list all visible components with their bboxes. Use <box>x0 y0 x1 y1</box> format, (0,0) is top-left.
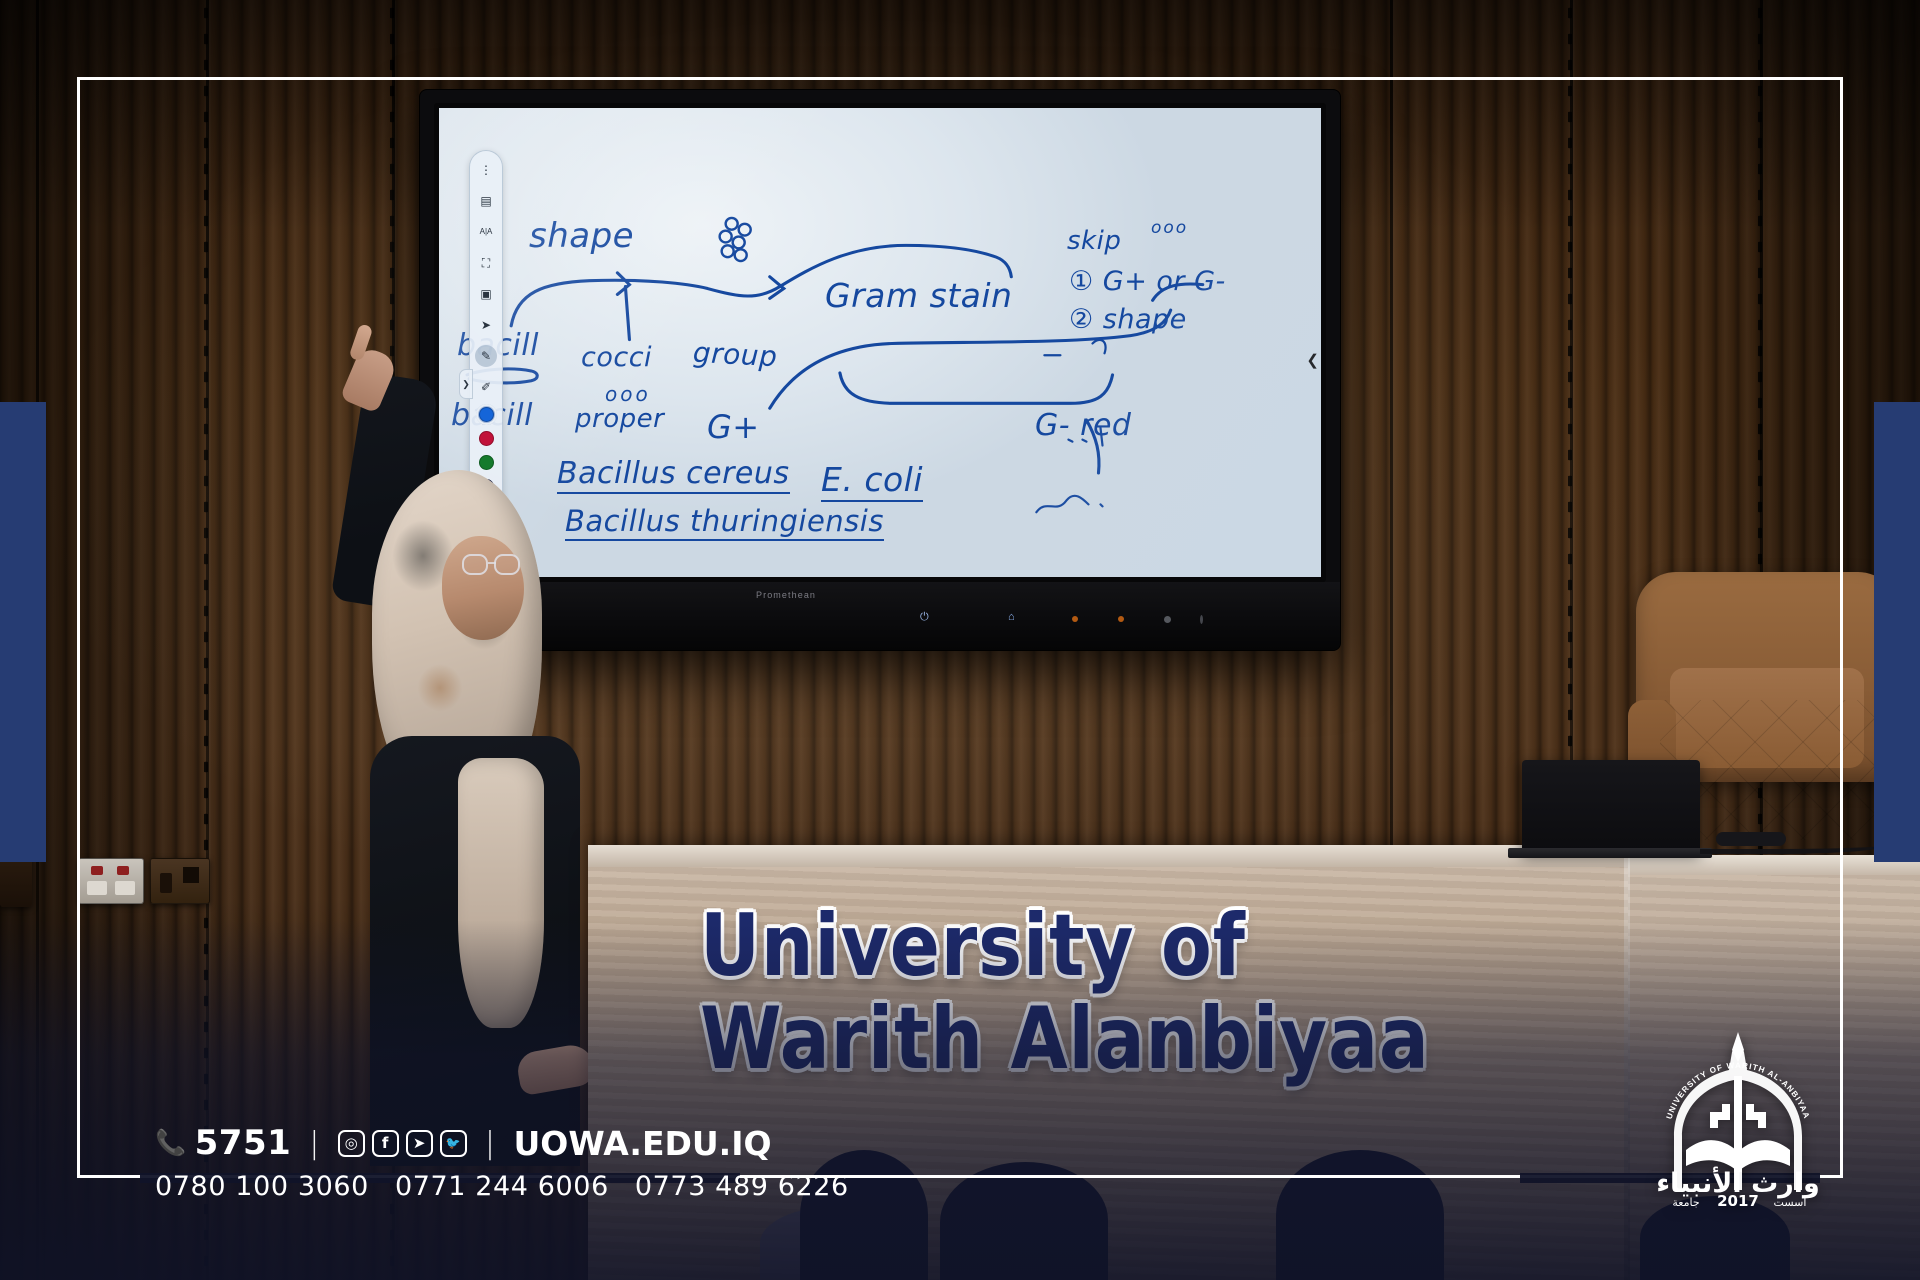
laptop-base <box>1508 848 1712 858</box>
note-skip-dots: ooo <box>1151 218 1188 238</box>
socket-outlet <box>87 881 107 895</box>
presenter-scarf-drape <box>458 758 544 1028</box>
power-icon[interactable]: ⏻ <box>920 611 929 624</box>
venue-sign-line-1: University of <box>700 896 1246 996</box>
wall-socket-double <box>78 858 144 904</box>
presenter <box>350 358 610 1158</box>
more-options-icon[interactable]: ⋮ <box>475 159 497 181</box>
note-skip: skip <box>1067 226 1121 256</box>
presenter-glasses <box>462 554 524 576</box>
sensor-led <box>1164 616 1171 623</box>
crest-year: 2017 <box>1717 1192 1759 1208</box>
save-icon[interactable]: ▤ <box>475 190 497 212</box>
phone-icon: 📞 <box>155 1128 187 1158</box>
glasses-lens <box>494 554 520 575</box>
twitter-icon[interactable]: 🐦 <box>440 1130 467 1157</box>
brand-accent-bar-left <box>0 402 46 862</box>
podium-top-edge <box>588 845 1628 867</box>
screenshot-root: shape bacill bacill cocci ooo proper gro… <box>0 0 1920 1280</box>
socket-switch <box>117 866 129 875</box>
instagram-icon[interactable]: ◎ <box>338 1130 365 1157</box>
telegram-icon[interactable]: ➤ <box>406 1130 433 1157</box>
socket-plate <box>160 873 172 893</box>
footer-primary-row: 📞 5751 | ◎ f ➤ 🐦 | UOWA.EDU.IQ <box>155 1123 849 1163</box>
crest-arabic-sub: جامعة <box>1672 1196 1699 1208</box>
venue-sign: University of Warith Alanbiyaa <box>700 900 1526 1086</box>
text-tool-icon[interactable]: A|A <box>475 221 497 243</box>
phone-number[interactable]: 0773 489 6226 <box>635 1171 849 1202</box>
wall-socket-dark <box>150 858 210 904</box>
venue-sign-line-2: Warith Alanbiyaa <box>700 993 1526 1086</box>
glasses-lens <box>462 554 488 575</box>
wall-socket-edge <box>0 855 32 907</box>
note-gram-stain: Gram stain <box>825 276 1012 315</box>
presenter-face <box>442 536 524 640</box>
socket-switch <box>91 866 103 875</box>
glasses-bridge <box>488 562 496 564</box>
phone-number[interactable]: 0771 244 6006 <box>395 1171 609 1202</box>
socket-outlet <box>115 881 135 895</box>
note-list-item-2: ② shape <box>1069 304 1187 335</box>
audience-head <box>1276 1150 1444 1280</box>
status-led <box>1118 616 1124 622</box>
ir-sensor <box>1200 615 1203 624</box>
footer-contact-block: 📞 5751 | ◎ f ➤ 🐦 | UOWA.EDU.IQ 0780 100 … <box>155 1123 849 1202</box>
crest-artwork: UNIVERSITY OF WARITH AL-ANBIYAA وارث الأ… <box>1652 1030 1824 1208</box>
home-icon[interactable]: ⌂ <box>1008 611 1015 623</box>
phone-number[interactable]: 0780 100 3060 <box>155 1171 369 1202</box>
note-cocci-dots: ooo <box>605 382 651 406</box>
note-group: group <box>692 336 778 373</box>
note-shape: shape <box>529 216 634 256</box>
note-g-negative-red: G- red <box>1035 408 1131 443</box>
screen-edge-handle[interactable]: ❮ <box>1306 351 1319 369</box>
cursor-icon[interactable]: ➤ <box>475 314 497 336</box>
note-list-item-1: ① G+ or G- <box>1069 266 1226 297</box>
footer-phone-row: 0780 100 3060 0771 244 6006 0773 489 622… <box>155 1171 849 1202</box>
note-g-positive: G+ <box>707 408 760 446</box>
note-bacillus-thuringiensis: Bacillus thuringiensis <box>565 504 884 541</box>
display-brand-label: Promethean <box>756 590 816 600</box>
insert-image-icon[interactable]: ▣ <box>475 283 497 305</box>
select-area-icon[interactable]: ⛶ <box>475 252 497 274</box>
laptop <box>1522 760 1700 852</box>
social-links[interactable]: ◎ f ➤ 🐦 <box>338 1130 467 1157</box>
website-url[interactable]: UOWA.EDU.IQ <box>514 1124 772 1163</box>
crest-arabic-est: أسست <box>1774 1195 1807 1208</box>
audience-head <box>940 1162 1108 1280</box>
socket-plate <box>183 867 199 883</box>
hotline-number[interactable]: 5751 <box>195 1123 292 1163</box>
brand-accent-bar-right <box>1874 402 1920 862</box>
audience-head <box>1640 1196 1790 1280</box>
note-e-coli: E. coli <box>821 460 923 502</box>
facebook-icon[interactable]: f <box>372 1130 399 1157</box>
university-logo: UNIVERSITY OF WARITH AL-ANBIYAA وارث الأ… <box>1652 1030 1824 1208</box>
desk-joint-seam <box>1624 855 1630 1280</box>
footer-separator: | <box>305 1126 324 1161</box>
status-led <box>1072 616 1078 622</box>
footer-separator: | <box>481 1126 500 1161</box>
